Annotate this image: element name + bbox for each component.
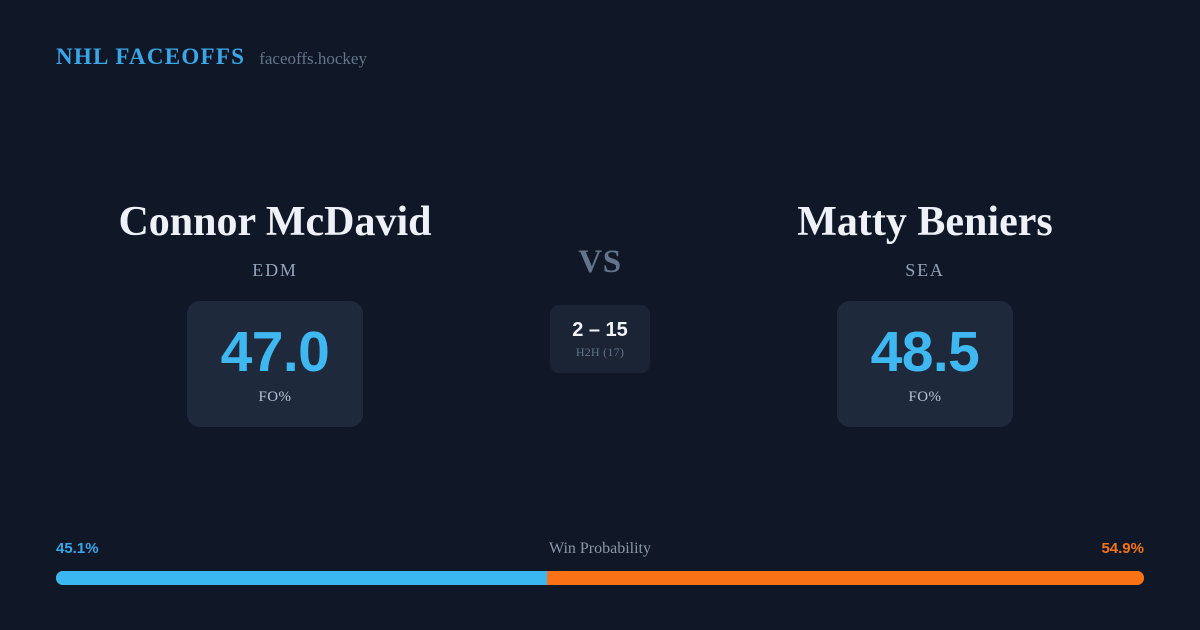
stat-label-left: FO% [258, 389, 291, 406]
versus-label: VS [578, 244, 622, 280]
stat-label-right: FO% [908, 389, 941, 406]
stat-card-left: 47.0 FO% [187, 301, 363, 427]
faceoff-percent-left: 47.0 [221, 323, 330, 381]
brand-title: NHL FACEOFFS [56, 44, 245, 70]
versus-block: VS 2 – 15 H2H (17) [510, 196, 690, 373]
faceoff-percent-right: 48.5 [871, 323, 980, 381]
matchup-row: Connor McDavid EDM 47.0 FO% VS 2 – 15 H2… [0, 196, 1200, 427]
head-to-head-label: H2H (17) [576, 345, 624, 360]
player-name-left: Connor McDavid [118, 196, 431, 248]
team-abbr-left: EDM [252, 260, 297, 281]
player-name-right: Matty Beniers [797, 196, 1052, 248]
head-to-head-record: 2 – 15 [572, 319, 628, 341]
page-header: NHL FACEOFFS faceoffs.hockey [56, 44, 367, 70]
head-to-head-box: 2 – 15 H2H (17) [550, 305, 650, 373]
win-probability-title: Win Probability [56, 540, 1144, 558]
win-probability-bar [56, 571, 1144, 585]
player-card-left[interactable]: Connor McDavid EDM 47.0 FO% [40, 196, 510, 427]
win-probability-right-value: 54.9% [1101, 540, 1144, 557]
site-domain: faceoffs.hockey [259, 49, 367, 69]
player-card-right[interactable]: Matty Beniers SEA 48.5 FO% [690, 196, 1160, 427]
win-probability-bar-right [547, 571, 1144, 585]
win-probability-labels: 45.1% Win Probability 54.9% [56, 540, 1144, 562]
stat-card-right: 48.5 FO% [837, 301, 1013, 427]
win-probability-section: 45.1% Win Probability 54.9% [56, 540, 1144, 585]
team-abbr-right: SEA [905, 260, 944, 281]
win-probability-bar-left [56, 571, 547, 585]
